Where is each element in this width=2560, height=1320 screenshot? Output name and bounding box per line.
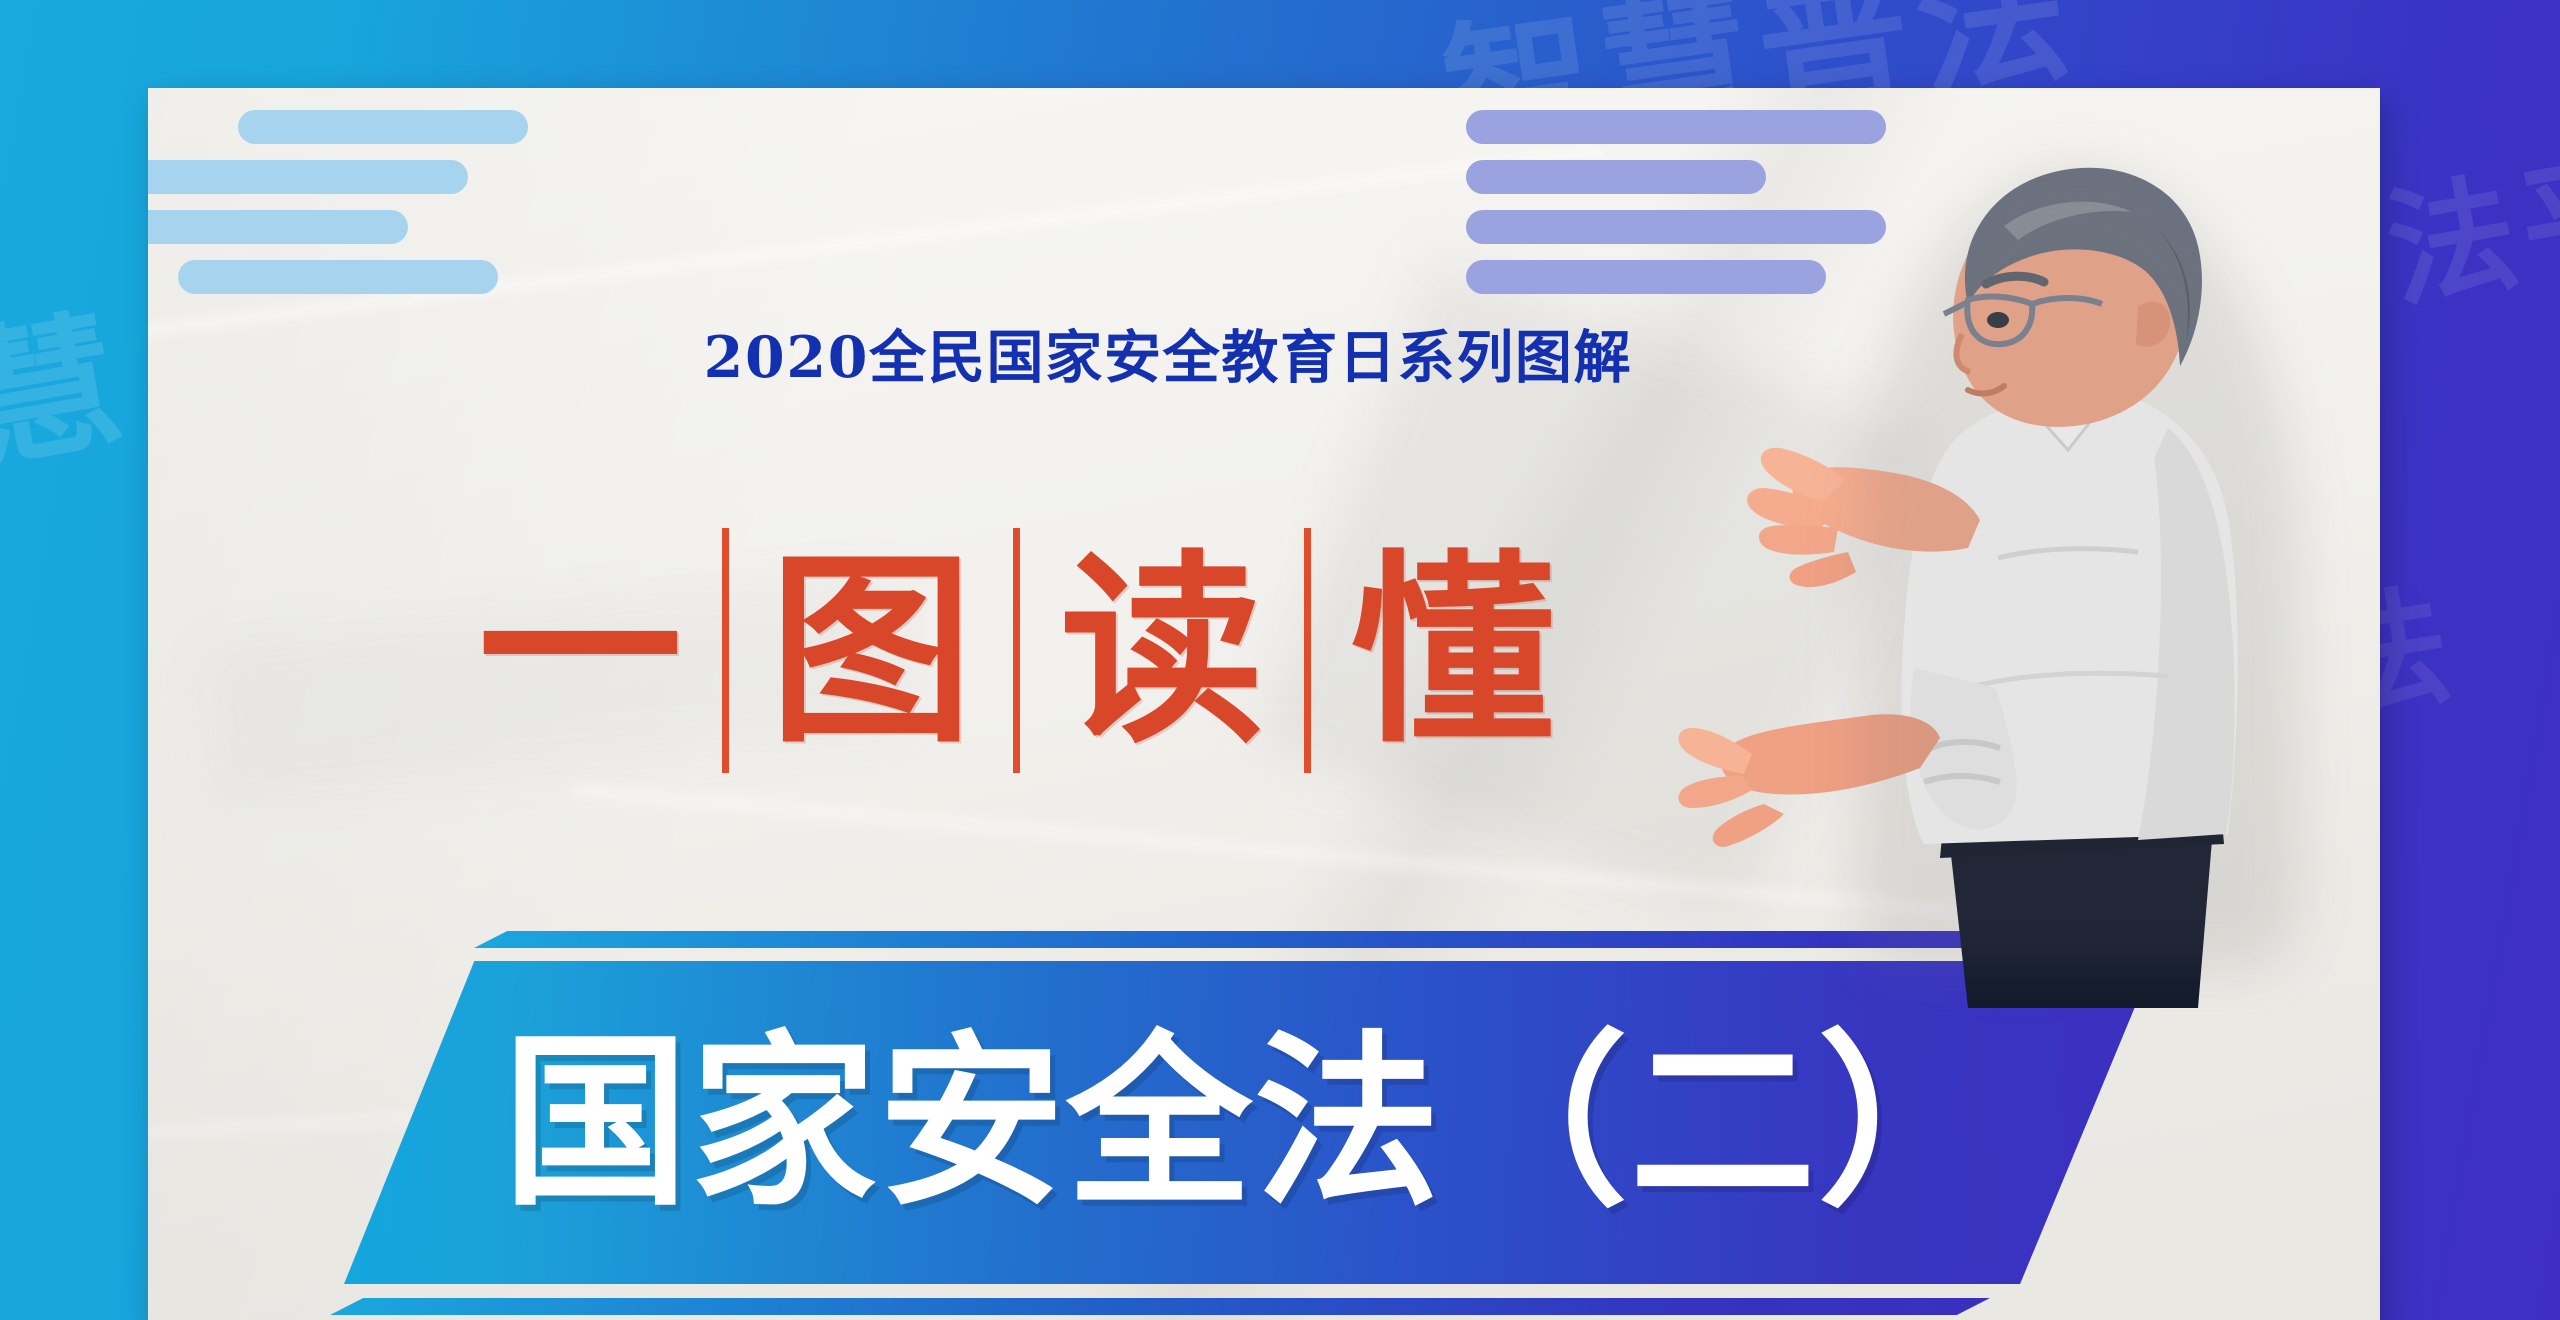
banner-title: 国家安全法（二）: [493, 1030, 2006, 1216]
headline-divider-3: [1304, 528, 1311, 773]
headline-char-3: 读: [1060, 549, 1264, 753]
illustration-drop-shadow: [1858, 168, 2298, 968]
headline-divider-2: [1013, 528, 1020, 773]
series-subtitle: 2020全民国家安全教育日系列图解: [598, 312, 1738, 394]
headline-char-4: 懂: [1351, 549, 1555, 753]
watermark-left: 慧: [0, 258, 143, 499]
banner-block: 国家安全法（二）: [344, 961, 2154, 1284]
banner-rule-bottom: [330, 1298, 1990, 1315]
cloud-ornament-left: [148, 110, 528, 290]
headline-char-1: 一: [478, 549, 682, 753]
speaker-illustration: [1668, 128, 2368, 1008]
headline-char-2: 图: [769, 549, 973, 753]
main-headline: 一 图 读 懂: [478, 528, 1555, 773]
poster-canvas: 智慧普法 智慧普法平台 慧 法治 普法 2020全民国家安全教育日系列图解: [0, 0, 2560, 1320]
headline-divider-1: [722, 528, 729, 773]
poster-card: 2020全民国家安全教育日系列图解 一 图 读 懂 国家安全法（二）: [148, 88, 2380, 1320]
